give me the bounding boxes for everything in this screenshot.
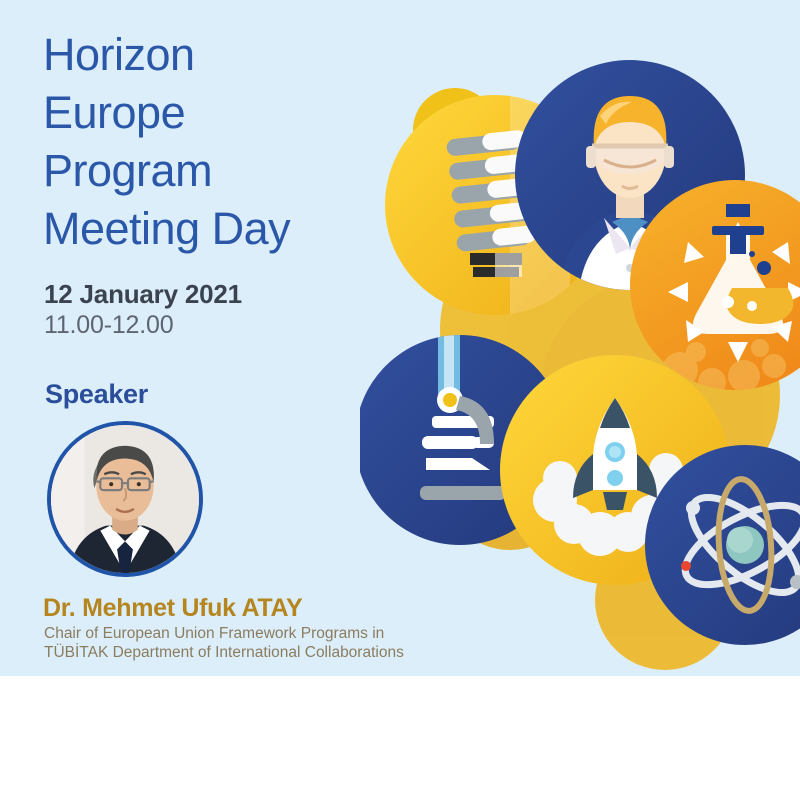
event-time: 11.00-12.00: [44, 311, 173, 340]
event-date: 12 January 2021: [44, 279, 242, 310]
poster-title: Horizon Europe Program Meeting Day: [43, 26, 403, 258]
title-line-3: Program: [43, 142, 403, 200]
title-line-4: Meeting Day: [43, 200, 403, 258]
science-illustration: [360, 0, 800, 676]
speaker-heading: Speaker: [45, 379, 148, 410]
title-line-1: Horizon: [43, 26, 403, 84]
poster-canvas: Horizon Europe Program Meeting Day 12 Ja…: [0, 0, 800, 676]
poster: Horizon Europe Program Meeting Day 12 Ja…: [0, 0, 800, 800]
footer: www.yeditepe.edu.tr: [0, 676, 800, 800]
speaker-name: Dr. Mehmet Ufuk ATAY: [43, 594, 302, 623]
speaker-role-line-2: TÜBİTAK Department of International Coll…: [44, 643, 474, 662]
speaker-role: Chair of European Union Framework Progra…: [44, 624, 474, 662]
speaker-avatar: [47, 421, 203, 577]
speaker-role-line-1: Chair of European Union Framework Progra…: [44, 624, 474, 643]
title-line-2: Europe: [43, 84, 403, 142]
